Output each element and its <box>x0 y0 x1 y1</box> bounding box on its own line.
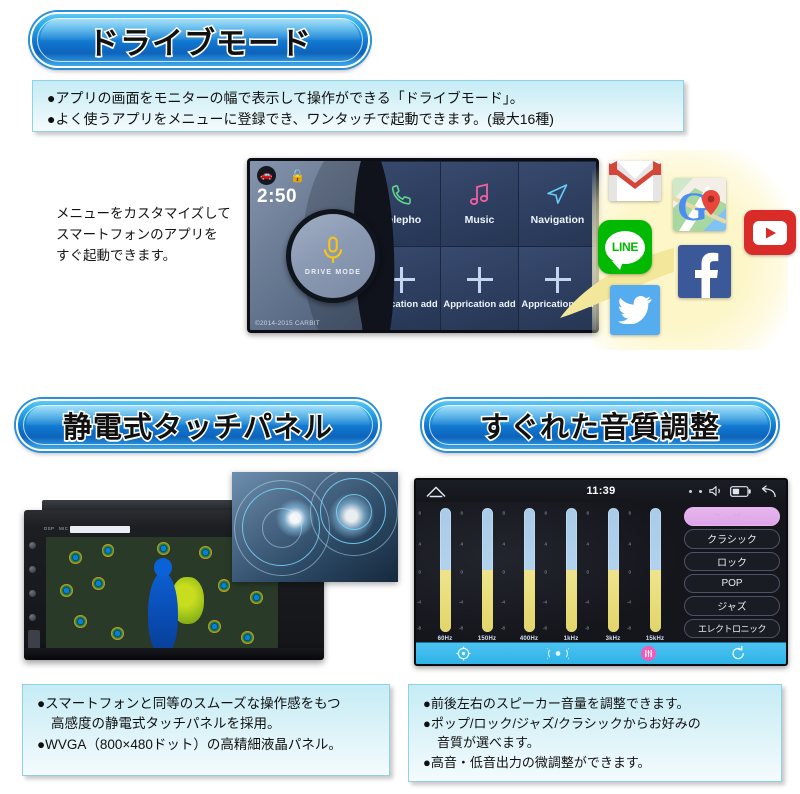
preset-user[interactable]: ユーザー <box>684 507 780 526</box>
tile-music-label: Music <box>465 214 495 226</box>
touch-ring <box>262 508 302 548</box>
tile-navigation[interactable]: Navigation <box>518 161 596 246</box>
sound-bullet-3: ●高音・低音出力の微調整ができます。 <box>423 753 767 773</box>
eq-tick: 0 <box>460 570 463 575</box>
peacock-body <box>148 572 178 655</box>
eq-tick: 4 <box>460 541 463 546</box>
section-header-touch-panel-label: 静電式タッチパネル <box>63 404 333 446</box>
battery-icon <box>730 486 751 497</box>
eq-tick: -4 <box>459 600 463 605</box>
sound-bullet-2: ●ポップ/ロック/ジャズ/クラシックからお好みの <box>423 714 767 734</box>
facebook-f-icon <box>690 252 720 298</box>
eq-tick: 4 <box>628 541 631 546</box>
back-arrow-icon[interactable] <box>758 485 776 497</box>
eq-tick: -4 <box>501 600 505 605</box>
peacock-eye <box>111 627 124 640</box>
tile-app-add-2[interactable]: Apprication add <box>440 246 518 331</box>
eq-tick: 4 <box>586 541 589 546</box>
microphone-icon <box>320 236 346 266</box>
drive-mode-knob-label: DRIVE MODE <box>305 269 361 276</box>
eq-scale-ticks: 8 4 0 -4 -8 <box>414 508 423 632</box>
eq-tick: -4 <box>543 600 547 605</box>
disc-slot <box>70 526 130 533</box>
preset-jazz[interactable]: ジャズ <box>684 596 780 615</box>
preset-rock[interactable]: ロック <box>684 552 780 571</box>
twitter-icon[interactable] <box>610 285 660 335</box>
equalizer-icon[interactable] <box>641 646 656 661</box>
usb-port <box>28 630 40 650</box>
peacock-eye <box>208 620 221 633</box>
tile-music[interactable]: Music <box>440 161 518 246</box>
eq-tick: 0 <box>586 570 589 575</box>
eq-scale-ticks: 8 4 0 -4 -8 <box>533 508 549 632</box>
signal-dot-icon <box>699 490 702 493</box>
svg-text:G: G <box>677 184 708 229</box>
balance-fader-icon[interactable] <box>451 646 475 662</box>
preset-classic[interactable]: クラシック <box>684 529 780 548</box>
equalizer-band-group: 8 4 0 -4 -8 60Hz 8 4 0 <box>416 502 682 642</box>
tile-app-add-2-label: Apprication add <box>443 299 515 310</box>
sound-bullet-1: ●前後左右のスピーカー音量を調整できます。 <box>423 694 767 714</box>
eq-tick: 4 <box>418 541 421 546</box>
drive-mode-description: ●アプリの画面をモニターの幅で表示して操作ができる「ドライブモード」。 ●よく使… <box>32 80 684 132</box>
sound-quality-description: ●前後左右のスピーカー音量を調整できます。 ●ポップ/ロック/ジャズ/クラシック… <box>408 684 782 782</box>
eq-scale-ticks: 8 4 0 -4 -8 <box>617 508 633 632</box>
eq-tick: -8 <box>417 626 421 631</box>
tile-app-add-3-label: Apprication add <box>521 299 593 310</box>
plus-icon <box>545 267 571 293</box>
tile-app-add-3[interactable]: Apprication add <box>518 246 596 331</box>
touch-ring <box>336 494 372 530</box>
unlock-icon: 🔓 <box>290 169 305 183</box>
eq-scale-ticks: 8 4 0 -4 -8 <box>575 508 591 632</box>
sound-wave-icon[interactable] <box>546 646 570 662</box>
head-unit-bottom-bar <box>24 648 324 660</box>
eq-band-15khz[interactable]: 8 4 0 -4 -8 15kHz <box>634 508 676 644</box>
eq-tick: 8 <box>418 510 421 515</box>
eq-scale-ticks: 8 4 0 -4 -8 <box>449 508 465 632</box>
touch-panel-description: ●スマートフォンと同等のスムーズな操作感をもつ 高感度の静電式タッチパネルを採用… <box>22 684 390 776</box>
line-icon[interactable]: LINE <box>598 220 652 274</box>
touch-gesture-photo <box>232 472 398 582</box>
eq-slider-fill <box>650 570 661 632</box>
line-wordmark: LINE <box>612 240 638 254</box>
line-bubble-shape: LINE <box>605 231 645 264</box>
sound-bullet-2-cont: 音質が選べます。 <box>423 733 767 753</box>
section-header-touch-panel: 静電式タッチパネル <box>16 399 380 451</box>
section-header-sound-quality: すぐれた音質調整 <box>422 399 778 451</box>
section-header-sound-quality-label: すぐれた音質調整 <box>480 404 720 446</box>
twitter-bird-icon <box>618 296 652 324</box>
car-icon: 🚗 <box>257 166 276 185</box>
peacock-eye <box>74 615 87 628</box>
equalizer-preset-list: ユーザー クラシック ロック POP ジャズ エレクトロニック <box>682 502 786 642</box>
peacock-eye <box>69 551 82 564</box>
drive-mode-voice-knob[interactable]: DRIVE MODE <box>286 209 380 303</box>
volume-icon[interactable] <box>709 485 723 497</box>
drive-mode-app-grid: Telepho Music Navigation Apprication add <box>362 161 596 330</box>
volume-down-button[interactable] <box>29 614 36 621</box>
plus-icon <box>467 267 493 293</box>
eq-scale-ticks: 8 4 0 -4 -8 <box>491 508 507 632</box>
product-feature-page: ドライブモード ●アプリの画面をモニターの幅で表示して操作ができる「ドライブモー… <box>0 0 800 794</box>
touch-panel-bullet-1-cont: 高感度の静電式タッチパネルを採用。 <box>37 714 375 734</box>
eq-tick: 8 <box>544 510 547 515</box>
youtube-icon[interactable] <box>744 210 796 255</box>
dsp-label: DSP <box>44 526 54 531</box>
music-note-icon <box>468 182 492 208</box>
equalizer-main-area: 8 4 0 -4 -8 60Hz 8 4 0 <box>416 502 786 642</box>
drive-mode-bullet-1: ●アプリの画面をモニターの幅で表示して操作ができる「ドライブモード」。 <box>47 88 669 109</box>
eq-tick: -4 <box>627 600 631 605</box>
section-header-drive-mode: ドライブモード <box>30 12 370 68</box>
drive-mode-caption: メニューをカスタマイズしてスマートフォンのアプリをすぐ起動できます。 <box>56 204 246 267</box>
preset-electronic[interactable]: エレクトロニック <box>684 619 780 638</box>
home-button[interactable] <box>29 590 36 597</box>
facebook-icon[interactable] <box>678 245 731 298</box>
power-button[interactable] <box>29 566 36 573</box>
drive-mode-bullet-2: ●よく使うアプリをメニューに登録でき、ワンタッチで起動できます。(最大16種) <box>47 109 669 130</box>
eq-tick: -8 <box>627 626 631 631</box>
google-maps-icon[interactable]: G <box>673 178 726 231</box>
signal-dot-icon <box>689 490 692 493</box>
eq-tick: 8 <box>628 510 631 515</box>
eq-tick: -4 <box>417 600 421 605</box>
equalizer-screen: 11:39 <box>414 478 788 666</box>
tile-navigation-label: Navigation <box>531 214 585 226</box>
eq-tick: 0 <box>418 570 421 575</box>
eq-tick: -8 <box>585 626 589 631</box>
phone-icon <box>389 182 415 208</box>
section-header-drive-mode-label: ドライブモード <box>88 18 312 63</box>
eq-tick: 0 <box>502 570 505 575</box>
eq-tick: 8 <box>586 510 589 515</box>
eq-tick: 0 <box>628 570 631 575</box>
drive-mode-screen: 🚗 🔓 2:50 DRIVE MODE ©2014-2015 CARBIT Te… <box>247 158 599 333</box>
peacock-eye <box>241 631 254 644</box>
touch-panel-bullet-1: ●スマートフォンと同等のスムーズな操作感をもつ <box>37 694 375 714</box>
eq-tick: -4 <box>585 600 589 605</box>
gmail-icon[interactable] <box>609 161 661 201</box>
eq-tick: 4 <box>544 541 547 546</box>
drive-mode-clock: 2:50 <box>257 186 305 208</box>
equalizer-bottom-bar <box>416 642 786 664</box>
reset-icon[interactable] <box>727 646 751 662</box>
eq-slider-track[interactable] <box>650 508 661 632</box>
eq-tick: 0 <box>544 570 547 575</box>
preset-pop[interactable]: POP <box>684 574 780 593</box>
touch-panel-bullet-2: ●WVGA（800×480ドット）の高精細液晶パネル。 <box>37 735 375 755</box>
peacock-eye <box>60 584 73 597</box>
eq-tick: 4 <box>502 541 505 546</box>
peacock-eye <box>157 542 170 555</box>
youtube-play-icon <box>753 221 787 245</box>
eq-tick: -8 <box>543 626 547 631</box>
copyright-text: ©2014-2015 CARBIT <box>255 320 320 327</box>
mic-label: MIC <box>59 526 68 531</box>
navigation-arrow-icon <box>544 182 571 208</box>
eq-tick: -8 <box>459 626 463 631</box>
eq-tick: -8 <box>501 626 505 631</box>
eject-button[interactable] <box>29 542 36 549</box>
eq-tick: 8 <box>502 510 505 515</box>
eq-tick: 8 <box>460 510 463 515</box>
equalizer-status-bar: 11:39 <box>416 480 786 502</box>
drive-mode-status-bar: 🚗 🔓 2:50 <box>257 166 305 208</box>
